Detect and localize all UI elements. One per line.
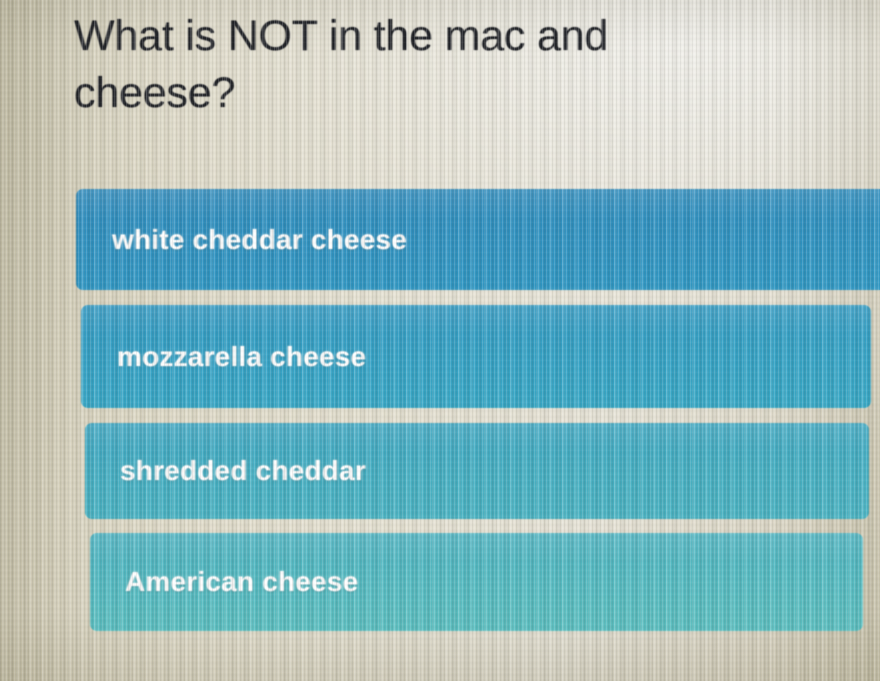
question-text: What is NOT in the mac and cheese?: [74, 8, 774, 122]
answer-option-3-label: shredded cheddar: [120, 455, 366, 487]
answer-option-1[interactable]: white cheddar cheese: [76, 189, 880, 290]
quiz-screen-photo: What is NOT in the mac and cheese? white…: [0, 0, 880, 681]
answer-option-4-label: American cheese: [125, 566, 358, 598]
answer-option-1-label: white cheddar cheese: [112, 224, 407, 256]
quiz-content: What is NOT in the mac and cheese? white…: [0, 0, 880, 681]
answer-option-2-label: mozzarella cheese: [117, 341, 366, 373]
answer-option-2[interactable]: mozzarella cheese: [81, 305, 871, 408]
answer-option-4[interactable]: American cheese: [90, 533, 863, 631]
answer-option-3[interactable]: shredded cheddar: [85, 423, 869, 519]
